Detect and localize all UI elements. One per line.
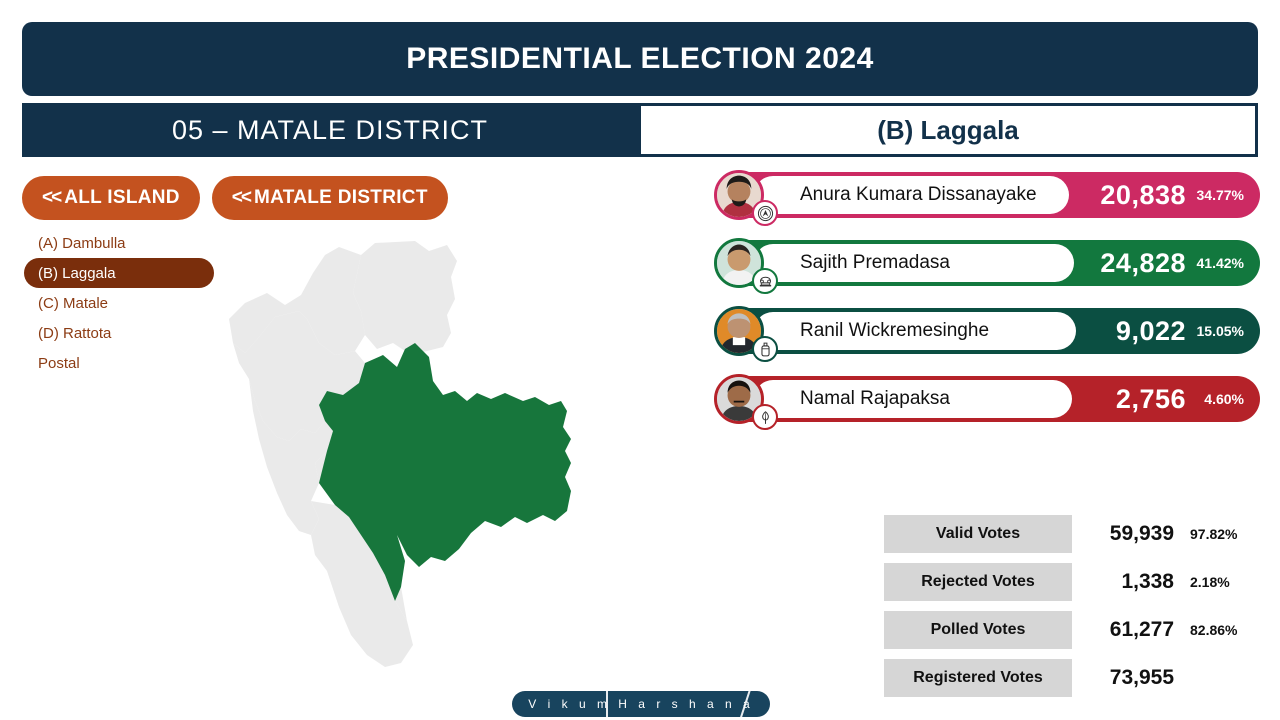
stat-label-registered-votes: Registered Votes <box>884 659 1072 697</box>
candidate-votes: 20,838 <box>1100 180 1186 211</box>
division-item-matale[interactable]: (C) Matale <box>24 288 224 318</box>
stat-value-registered-votes: 73,955 <box>1072 666 1182 690</box>
district-map[interactable] <box>215 215 645 705</box>
division-item-dambulla[interactable]: (A) Dambulla <box>24 228 224 258</box>
flower-bud-icon <box>752 404 778 430</box>
back-to-all-island-button[interactable]: << ALL ISLAND <box>22 176 200 220</box>
all-island-label: ALL ISLAND <box>64 187 180 209</box>
division-list: (A) Dambulla (B) Laggala (C) Matale (D) … <box>24 228 224 378</box>
candidate-name: Sajith Premadasa <box>800 252 950 274</box>
division-item-postal[interactable]: Postal <box>24 348 224 378</box>
candidate-row-namal-rajapaksa[interactable]: 2,756 4.60% Namal Rajapaksa <box>714 376 1260 422</box>
candidate-row-anura-kumara-dissanayake[interactable]: 20,838 34.77% Anura Kumara Dissanayake <box>714 172 1260 218</box>
candidate-results-list: 20,838 34.77% Anura Kumara Dissanayake 2… <box>714 172 1260 444</box>
table-row: Registered Votes 73,955 <box>884 659 1260 697</box>
candidate-name-pill: Anura Kumara Dissanayake <box>754 176 1069 214</box>
table-row: Polled Votes 61,277 82.86% <box>884 611 1260 649</box>
table-row: Rejected Votes 1,338 2.18% <box>884 563 1260 601</box>
stat-value-polled-votes: 61,277 <box>1072 618 1182 642</box>
district-label: MATALE DISTRICT <box>254 187 428 209</box>
tab-row: 05 – MATALE DISTRICT (B) Laggala <box>22 103 1258 157</box>
stat-percent-rejected-votes: 2.18% <box>1182 574 1254 590</box>
division-item-laggala[interactable]: (B) Laggala <box>24 258 214 288</box>
candidate-name-pill: Sajith Premadasa <box>754 244 1074 282</box>
back-to-district-button[interactable]: << MATALE DISTRICT <box>212 176 448 220</box>
map-region-dambulla <box>353 241 457 355</box>
compass-icon <box>752 200 778 226</box>
chevron-left-icon: << <box>42 187 60 209</box>
candidate-percent: 41.42% <box>1196 255 1244 271</box>
vote-summary-table: Valid Votes 59,939 97.82% Rejected Votes… <box>884 515 1260 707</box>
candidate-votes: 9,022 <box>1116 316 1186 347</box>
page-title-bar: PRESIDENTIAL ELECTION 2024 <box>22 22 1258 96</box>
candidate-row-ranil-wickremesinghe[interactable]: 9,022 15.05% Ranil Wickremesinghe <box>714 308 1260 354</box>
candidate-row-sajith-premadasa[interactable]: 24,828 41.42% Sajith Premadasa <box>714 240 1260 286</box>
telephone-icon <box>752 268 778 294</box>
tab-district[interactable]: 05 – MATALE DISTRICT <box>22 103 638 157</box>
watermark-text: V i k u m H a r s h a n a <box>528 697 753 711</box>
stat-label-valid-votes: Valid Votes <box>884 515 1072 553</box>
chevron-left-icon: << <box>232 187 250 209</box>
stat-value-rejected-votes: 1,338 <box>1072 570 1182 594</box>
election-results-page: PRESIDENTIAL ELECTION 2024 05 – MATALE D… <box>0 0 1280 720</box>
candidate-percent: 34.77% <box>1196 187 1244 203</box>
stat-value-valid-votes: 59,939 <box>1072 522 1182 546</box>
candidate-votes: 24,828 <box>1100 248 1186 279</box>
watermark-slash-icon <box>606 691 608 717</box>
breadcrumb: << ALL ISLAND << MATALE DISTRICT <box>22 176 448 220</box>
candidate-name: Anura Kumara Dissanayake <box>800 184 1037 206</box>
gas-cylinder-icon <box>752 336 778 362</box>
stat-percent-polled-votes: 82.86% <box>1182 622 1254 638</box>
stat-percent-valid-votes: 97.82% <box>1182 526 1254 542</box>
candidate-name-pill: Namal Rajapaksa <box>754 380 1072 418</box>
tab-division[interactable]: (B) Laggala <box>638 103 1258 157</box>
candidate-percent: 15.05% <box>1196 323 1244 339</box>
candidate-name-pill: Ranil Wickremesinghe <box>754 312 1076 350</box>
candidate-votes: 2,756 <box>1116 384 1186 415</box>
watermark: V i k u m H a r s h a n a <box>512 691 770 717</box>
stat-label-polled-votes: Polled Votes <box>884 611 1072 649</box>
table-row: Valid Votes 59,939 97.82% <box>884 515 1260 553</box>
page-title: PRESIDENTIAL ELECTION 2024 <box>406 42 874 76</box>
stat-label-rejected-votes: Rejected Votes <box>884 563 1072 601</box>
candidate-name: Ranil Wickremesinghe <box>800 320 989 342</box>
candidate-name: Namal Rajapaksa <box>800 388 950 410</box>
candidate-percent: 4.60% <box>1196 391 1244 407</box>
division-item-rattota[interactable]: (D) Rattota <box>24 318 224 348</box>
